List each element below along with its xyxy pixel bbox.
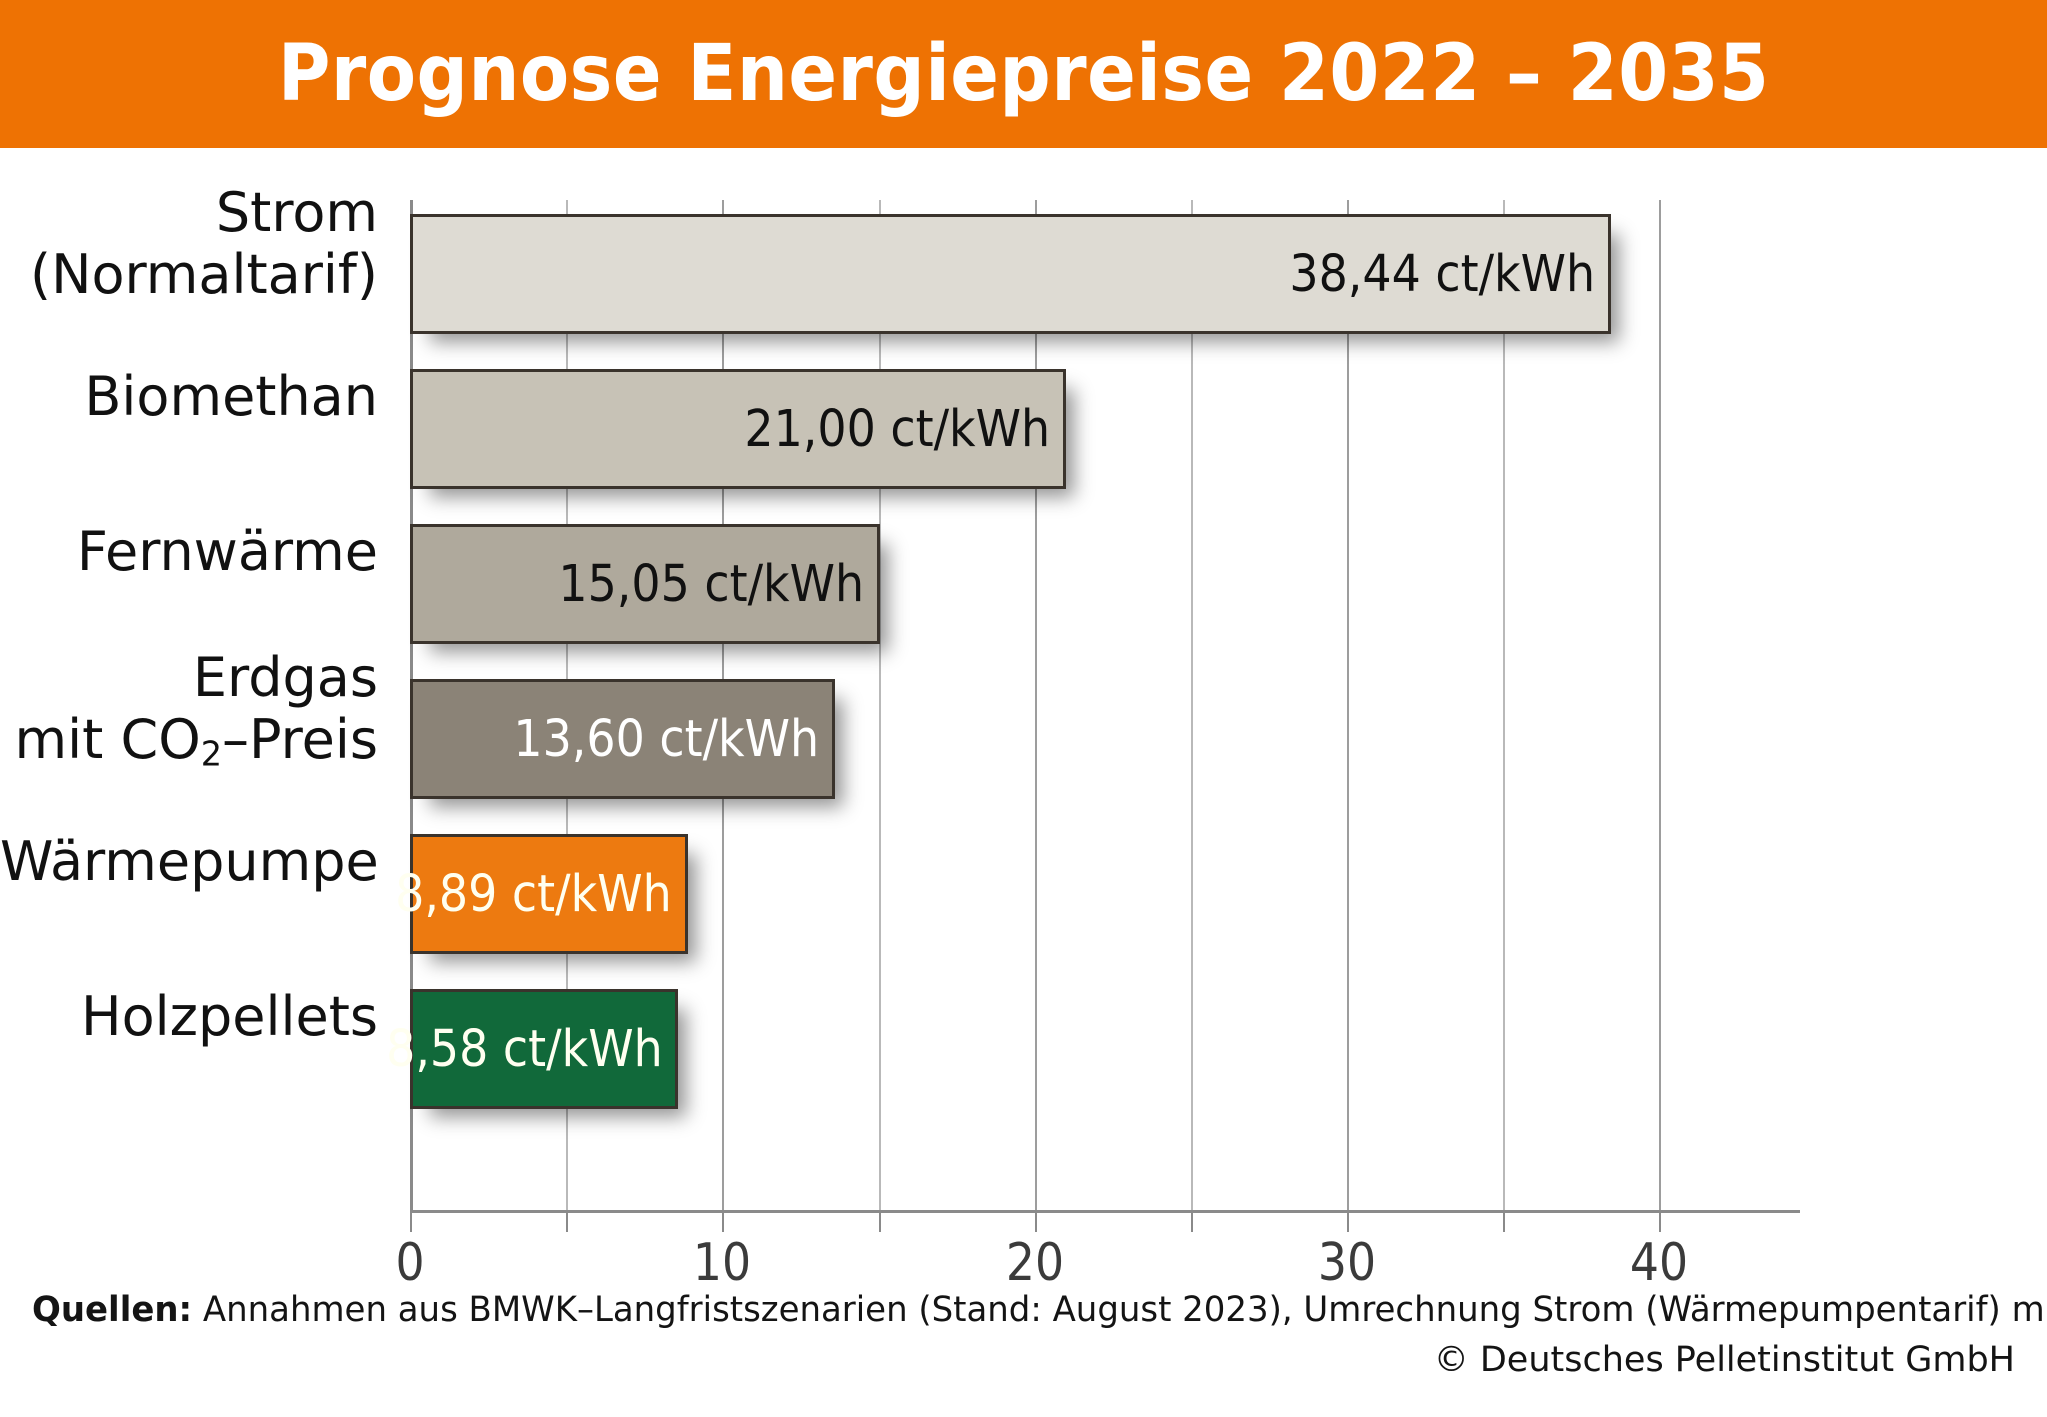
category-label-line1: Fernwärme [77, 520, 378, 583]
sources-label: Quellen: [32, 1290, 192, 1330]
bar-row: 8,89 ct/kWh [410, 834, 1800, 954]
category-label: Erdgasmit CO2–Preis [0, 647, 400, 773]
page-title: Prognose Energiepreise 2022 – 2035 [278, 29, 1770, 119]
bar-row: 21,00 ct/kWh [410, 369, 1800, 489]
bar[interactable]: 21,00 ct/kWh [410, 369, 1066, 489]
bar-value-label: 8,58 ct/kWh [386, 1020, 675, 1079]
x-axis-tick-minor [1503, 1210, 1505, 1232]
copyright-line: © Deutsches Pelletinstitut GmbH [32, 1336, 2015, 1386]
x-axis-line [410, 1210, 1800, 1213]
x-axis-tick [410, 1210, 412, 1232]
category-label: Strom(Normaltarif) [0, 182, 400, 305]
x-axis-tick [1659, 1210, 1661, 1232]
category-label-line1: Erdgas [193, 646, 378, 709]
category-label: Wärmepumpe [0, 831, 400, 893]
x-axis-tick [1035, 1210, 1037, 1232]
bar[interactable]: 15,05 ct/kWh [410, 524, 880, 644]
footer: Quellen: Annahmen aus BMWK–Langfristszen… [0, 1286, 2047, 1385]
category-label-line1: Holzpellets [81, 985, 378, 1048]
bar-value-label: 15,05 ct/kWh [559, 555, 877, 614]
bar-value-label: 13,60 ct/kWh [513, 710, 831, 769]
x-axis-tick-label: 0 [395, 1233, 424, 1293]
x-axis-tick-minor [879, 1210, 881, 1232]
category-label-line1: Biomethan [84, 365, 378, 428]
x-axis-tick [722, 1210, 724, 1232]
bar-value-label: 21,00 ct/kWh [745, 400, 1063, 459]
x-axis-tick-label: 20 [1006, 1233, 1064, 1293]
bar[interactable]: 8,58 ct/kWh [410, 989, 678, 1109]
bar[interactable]: 13,60 ct/kWh [410, 679, 835, 799]
x-axis-tick-label: 40 [1630, 1233, 1688, 1293]
bar[interactable]: 8,89 ct/kWh [410, 834, 688, 954]
sources-text: Annahmen aus BMWK–Langfristszenarien (St… [192, 1290, 2047, 1330]
bar-row: 15,05 ct/kWh [410, 524, 1800, 644]
chart-container: 01020304038,44 ct/kWh21,00 ct/kWh15,05 c… [0, 148, 2047, 1268]
x-axis-tick-label: 30 [1318, 1233, 1376, 1293]
bar-row: 13,60 ct/kWh [410, 679, 1800, 799]
x-axis-tick-minor [1191, 1210, 1193, 1232]
bar-row: 38,44 ct/kWh [410, 214, 1800, 334]
bar[interactable]: 38,44 ct/kWh [410, 214, 1611, 334]
bar-row: 8,58 ct/kWh [410, 989, 1800, 1109]
category-label-line1: Strom [216, 181, 378, 244]
x-axis-tick [1347, 1210, 1349, 1232]
chart-page: Prognose Energiepreise 2022 – 2035 01020… [0, 0, 2047, 1417]
title-banner: Prognose Energiepreise 2022 – 2035 [0, 0, 2047, 148]
bar-value-label: 38,44 ct/kWh [1289, 245, 1607, 304]
category-label: Biomethan [0, 366, 400, 428]
x-axis-tick-label: 10 [693, 1233, 751, 1293]
category-label: Holzpellets [0, 986, 400, 1048]
plot-area: 01020304038,44 ct/kWh21,00 ct/kWh15,05 c… [410, 200, 1800, 1300]
sources-line: Quellen: Annahmen aus BMWK–Langfristszen… [32, 1286, 1956, 1336]
category-label-line1: Wärmepumpe [0, 830, 379, 893]
bar-value-label: 8,89 ct/kWh [396, 865, 685, 924]
x-axis-tick-minor [566, 1210, 568, 1232]
category-label-line2: (Normaltarif) [0, 244, 378, 306]
category-label: Fernwärme [0, 521, 400, 583]
category-label-line2: mit CO2–Preis [0, 709, 378, 774]
